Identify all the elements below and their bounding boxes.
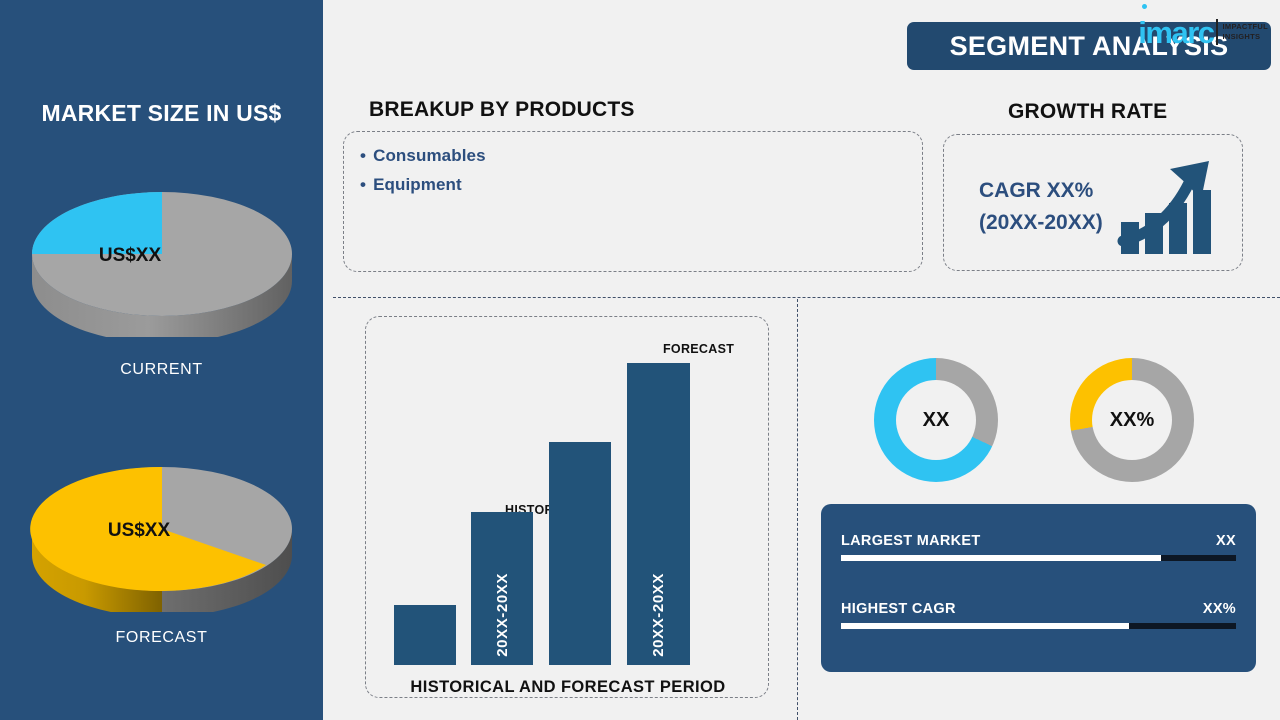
historical-forecast-bar-chart: HISTORICAL FORECAST 20XX-20XX 20XX-20XX … <box>366 317 770 699</box>
market-size-sidebar: MARKET SIZE IN US$ US$XX <box>0 0 323 720</box>
kpi-label-highest-cagr: HIGHEST CAGR <box>841 601 956 617</box>
segment-analysis-infographic: MARKET SIZE IN US$ US$XX <box>0 0 1280 720</box>
logo-dot-icon <box>1142 4 1147 9</box>
horizontal-divider <box>333 297 1280 298</box>
sidebar-title: MARKET SIZE IN US$ <box>0 100 323 127</box>
bar-2: 20XX-20XX <box>471 512 533 665</box>
logo-wordmark: imarc <box>1138 17 1213 48</box>
kpi-track-largest-market <box>841 555 1236 561</box>
cagr-text: CAGR XX% (20XX-20XX) <box>979 175 1103 239</box>
kpi-fill-highest-cagr <box>841 623 1129 629</box>
highest-cagr-donut-hole: XX% <box>1092 380 1172 460</box>
breakup-heading: BREAKUP BY PRODUCTS <box>369 98 635 122</box>
largest-market-donut: XX <box>874 358 998 482</box>
breakup-list: Consumables Equipment <box>360 141 486 199</box>
largest-market-donut-hole: XX <box>896 380 976 460</box>
main-panel: SEGMENT ANALYSIS imarc IMPACTFUL INSIGHT… <box>323 0 1280 720</box>
highest-cagr-donut: XX% <box>1070 358 1194 482</box>
cagr-line-2: (20XX-20XX) <box>979 207 1103 239</box>
kpi-label-largest-market: LARGEST MARKET <box>841 533 981 549</box>
cagr-line-1: CAGR XX% <box>979 175 1103 207</box>
logo-tagline-line1: IMPACTFUL <box>1223 22 1268 32</box>
logo-tagline-line2: INSIGHTS <box>1223 32 1268 42</box>
logo-tagline: IMPACTFUL INSIGHTS <box>1223 22 1268 42</box>
vertical-divider <box>797 299 798 720</box>
current-pie-chart: US$XX <box>29 165 295 337</box>
kpi-value-highest-cagr: XX% <box>1203 601 1236 617</box>
kpi-fill-largest-market <box>841 555 1161 561</box>
kpi-track-highest-cagr <box>841 623 1236 629</box>
kpi-row-largest-market: LARGEST MARKET XX <box>841 532 1236 561</box>
bar-3 <box>549 442 611 665</box>
kpi-panel: LARGEST MARKET XX HIGHEST CAGR XX% <box>821 504 1256 672</box>
highest-cagr-donut-label: XX% <box>1110 409 1154 432</box>
growth-box: CAGR XX% (20XX-20XX) <box>943 134 1243 271</box>
bar-4: 20XX-20XX <box>627 363 690 665</box>
largest-market-donut-label: XX <box>923 409 950 432</box>
forecast-pie-value: US$XX <box>108 520 171 541</box>
logo-divider <box>1216 19 1218 45</box>
kpi-value-largest-market: XX <box>1216 533 1236 549</box>
current-pie-value: US$XX <box>99 245 162 266</box>
breakup-box: Consumables Equipment <box>343 131 923 272</box>
list-item: Consumables <box>360 141 486 170</box>
imarc-logo: imarc IMPACTFUL INSIGHTS <box>1138 12 1268 52</box>
bar-annotation-forecast: FORECAST <box>663 342 734 356</box>
forecast-pie-svg: US$XX <box>29 440 295 612</box>
current-pie-caption: CURRENT <box>0 361 323 379</box>
growth-heading: GROWTH RATE <box>1008 100 1167 124</box>
current-pie-svg: US$XX <box>29 165 295 337</box>
bar-chart-axis-caption: HISTORICAL AND FORECAST PERIOD <box>366 678 770 697</box>
forecast-pie-caption: FORECAST <box>0 629 323 647</box>
historical-forecast-chart-box: HISTORICAL FORECAST 20XX-20XX 20XX-20XX … <box>365 316 769 698</box>
kpi-row-highest-cagr: HIGHEST CAGR XX% <box>841 600 1236 629</box>
bar-1 <box>394 605 456 665</box>
forecast-pie-chart: US$XX <box>29 440 295 612</box>
bar-2-label: 20XX-20XX <box>494 573 511 657</box>
list-item: Equipment <box>360 170 486 199</box>
growth-arrow-bars-icon <box>1115 153 1220 263</box>
bar-4-label: 20XX-20XX <box>650 573 667 657</box>
